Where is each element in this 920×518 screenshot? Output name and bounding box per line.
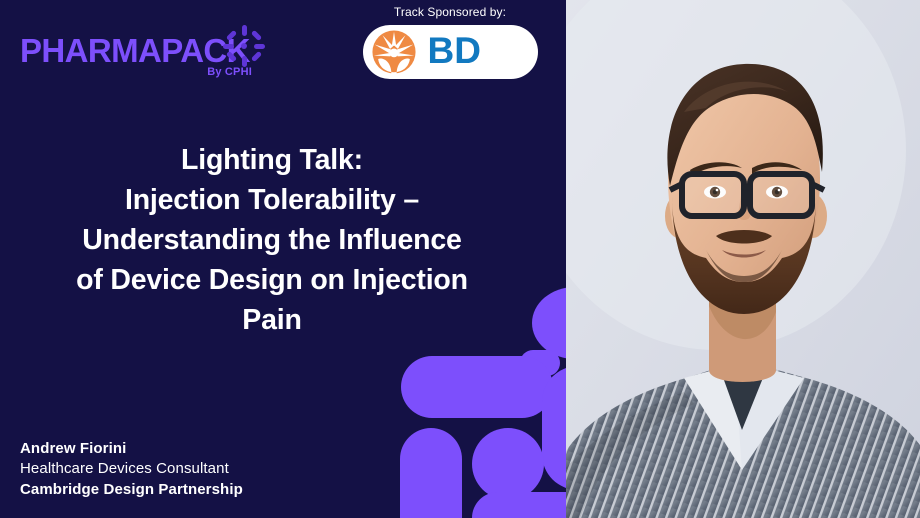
session-title: Lighting Talk: Injection Tolerability – … — [22, 140, 522, 340]
title-line-2: Injection Tolerability – — [125, 184, 419, 216]
speaker-block: Andrew Fiorini Healthcare Devices Consul… — [20, 439, 243, 501]
speaker-role: Healthcare Devices Consultant — [20, 459, 243, 480]
sponsor-block: Track Sponsored by: — [360, 5, 540, 79]
title-line-4: of Device Design on Injection — [76, 264, 468, 296]
bd-sunburst-icon — [372, 30, 416, 74]
speaker-photo — [566, 0, 920, 518]
pharmapack-byline: By CPHI — [207, 66, 252, 78]
bd-logo[interactable]: BD — [363, 25, 538, 79]
decor-bar-bottom — [472, 492, 566, 518]
title-line-3: Understanding the Influence — [82, 224, 461, 256]
bd-wordmark: BD — [428, 32, 481, 69]
decor-pill-tall-left — [400, 428, 462, 518]
asterisk-burst-icon — [223, 25, 265, 67]
decor-circle-top — [532, 287, 566, 359]
speaker-name: Andrew Fiorini — [20, 439, 243, 460]
title-line-5: Pain — [242, 304, 301, 336]
decor-pill-tall-right — [542, 366, 566, 490]
slide-left-panel: PHARMAPACK By CPHI Track Sponsored by: — [0, 0, 566, 518]
decor-bar-wide — [401, 356, 553, 418]
presentation-slide: PHARMAPACK By CPHI Track Sponsored by: — [0, 0, 920, 518]
speaker-company: Cambridge Design Partnership — [20, 480, 243, 501]
title-line-1: Lighting Talk: — [181, 144, 363, 176]
pharmapack-wordmark: PHARMAPACK — [20, 34, 250, 67]
decor-circle-mid — [472, 428, 544, 500]
pharmapack-logo[interactable]: PHARMAPACK By CPHI — [20, 28, 270, 88]
sponsor-label: Track Sponsored by: — [360, 5, 540, 19]
